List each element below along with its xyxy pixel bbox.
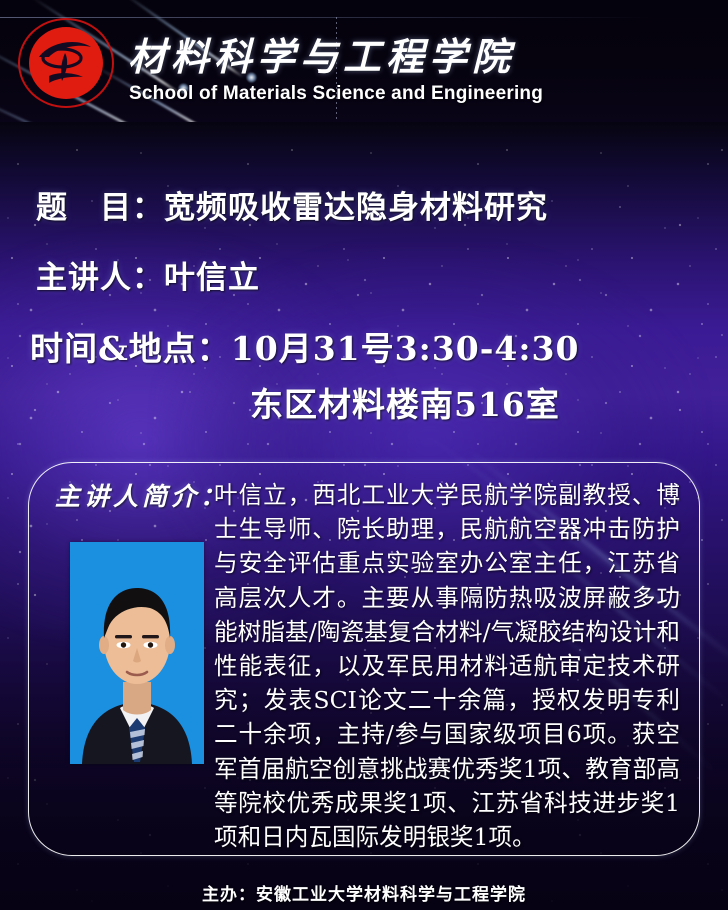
seminar-time-line: 时间&地点：10月31号3:30-4:30 <box>30 322 579 370</box>
poster-footer-organizer: 主办：安徽工业大学材料科学与工程学院 <box>0 880 728 905</box>
seminar-place-line: 东区材料楼南516室 <box>250 378 560 426</box>
school-name-cn: 材料科学与工程学院 <box>128 26 515 81</box>
speaker-bio-text: 叶信立，西北工业大学民航学院副教授、博士生导师、院长助理，民航航空器冲击防护与安… <box>214 478 680 854</box>
speaker-bio-heading: 主讲人简介： <box>55 477 229 513</box>
school-name-en: School of Materials Science and Engineer… <box>129 83 543 105</box>
seminar-poster: 材料科学与工程学院 School of Materials Science an… <box>0 0 728 910</box>
emblem-glyph-icon <box>29 27 103 99</box>
seminar-speaker-line: 主讲人：叶信立 <box>36 252 260 297</box>
university-emblem-icon <box>18 18 116 110</box>
seminar-title-line: 题 目：宽频吸收雷达隐身材料研究 <box>36 182 548 227</box>
portrait-illustration <box>70 542 204 764</box>
speaker-portrait-photo <box>70 542 204 764</box>
